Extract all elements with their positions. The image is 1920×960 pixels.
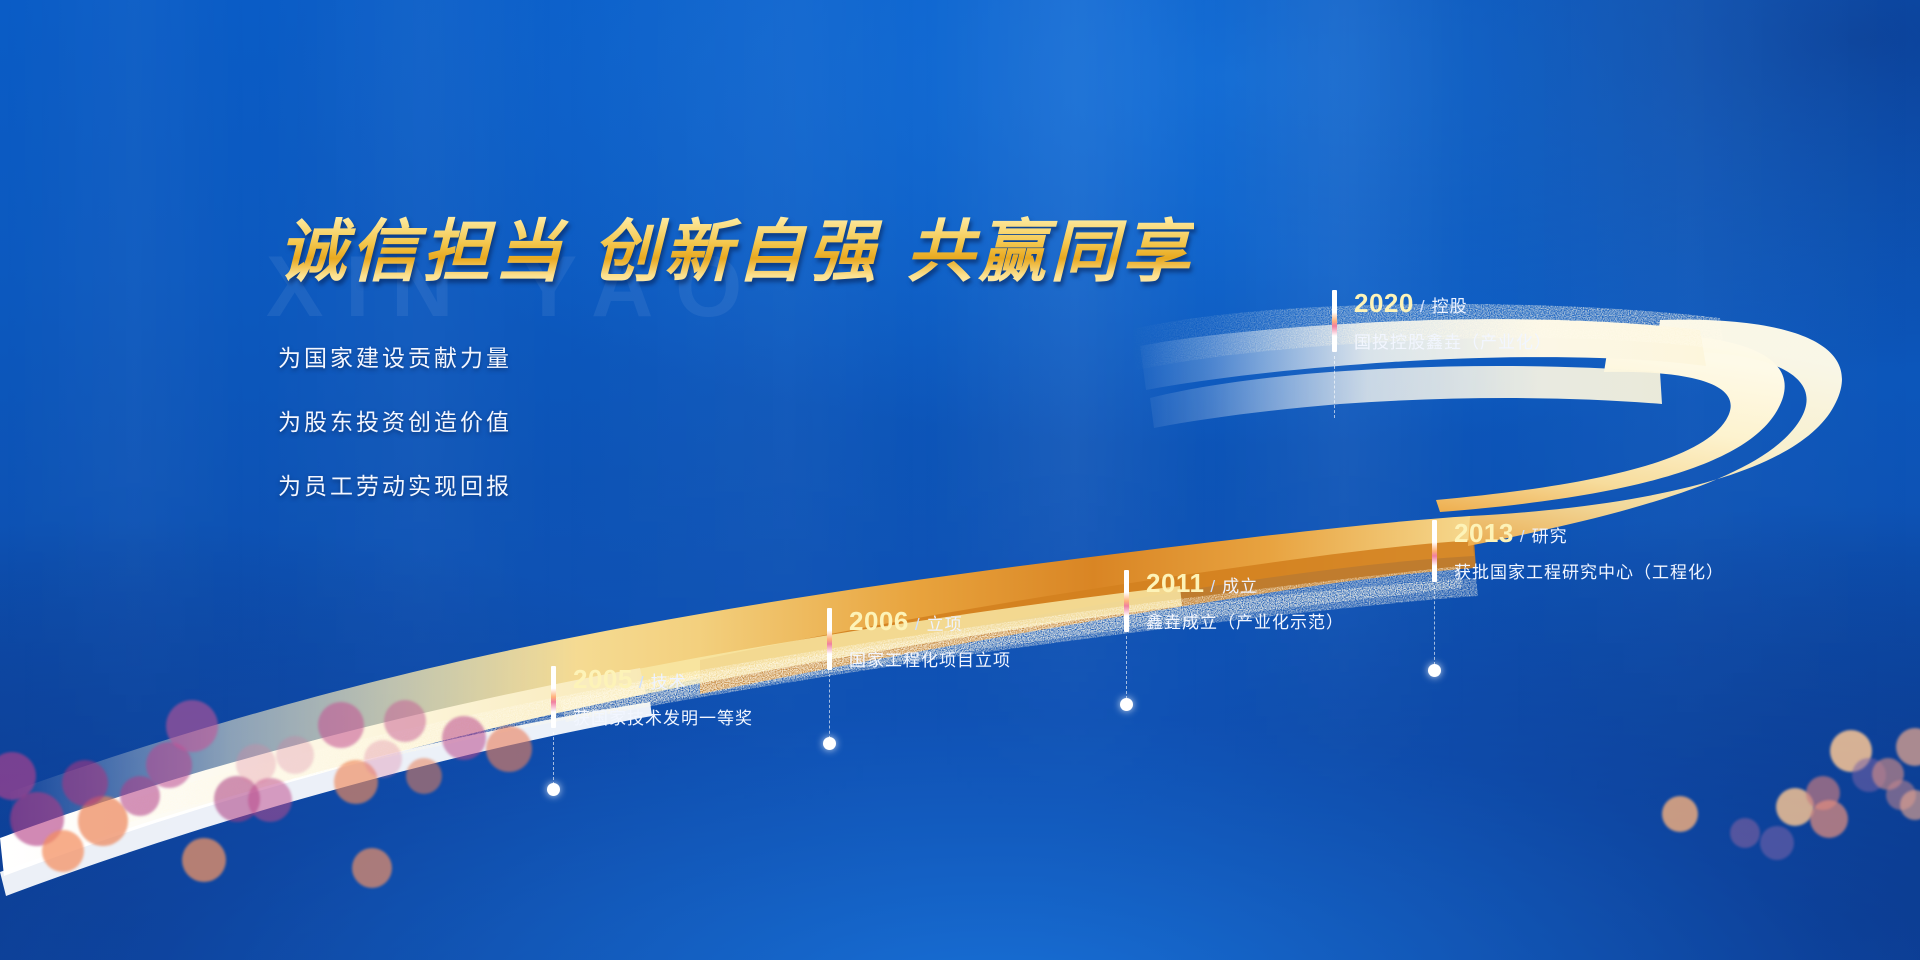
- milestone-accent-bar: [827, 608, 832, 670]
- bokeh-dot: [276, 736, 314, 774]
- milestone-dot-2006[interactable]: [823, 737, 836, 750]
- milestone-description: 获国家技术发明一等奖: [573, 704, 753, 729]
- milestone-leader-line-2013: [1434, 586, 1435, 670]
- bokeh-dot: [62, 760, 108, 806]
- page-title-part-2: 创新自强: [592, 214, 880, 290]
- tagline-item: 为员工劳动实现回报: [278, 467, 1194, 501]
- hero-text-block: XIN YAO 诚信担当创新自强共赢同享 为国家建设贡献力量 为股东投资创造价值…: [278, 196, 1194, 531]
- bokeh-dot: [1760, 826, 1794, 860]
- bokeh-dot: [10, 792, 64, 846]
- milestone-year: 2013: [1454, 518, 1514, 549]
- bokeh-dot: [1810, 800, 1848, 838]
- bokeh-dot: [236, 744, 276, 784]
- milestone-2011[interactable]: 2011/成立 鑫垚成立（产业化示范）: [1124, 568, 1344, 633]
- milestone-description: 获批国家工程研究中心（工程化）: [1454, 558, 1724, 583]
- milestone-dot-2005[interactable]: [547, 783, 560, 796]
- page-title: 诚信担当创新自强共赢同享: [278, 196, 1194, 295]
- bokeh-dot: [364, 740, 402, 778]
- milestone-separator: /: [1420, 297, 1425, 316]
- milestone-leader-line-2011: [1126, 636, 1127, 704]
- milestone-description: 国家工程化项目立项: [849, 646, 1011, 671]
- milestone-description: 鑫垚成立（产业化示范）: [1146, 608, 1344, 633]
- page-title-part-3: 共赢同享: [906, 214, 1194, 290]
- banner-canvas: XIN YAO 诚信担当创新自强共赢同享 为国家建设贡献力量 为股东投资创造价值…: [0, 0, 1920, 960]
- milestone-heading: 2005/技术: [573, 664, 753, 695]
- milestone-2020[interactable]: 2020/控股 国投控股鑫垚（产业化）: [1332, 288, 1552, 353]
- bokeh-dot: [166, 700, 218, 752]
- bokeh-dot: [334, 760, 378, 804]
- milestone-accent-bar: [1332, 290, 1337, 352]
- bokeh-dot: [486, 726, 532, 772]
- bokeh-dot: [1830, 730, 1872, 772]
- milestone-year: 2011: [1146, 568, 1204, 599]
- milestone-category: 技术: [651, 668, 687, 693]
- bokeh-dot: [1900, 790, 1920, 820]
- tagline-list: 为国家建设贡献力量 为股东投资创造价值 为员工劳动实现回报: [278, 339, 1194, 501]
- bokeh-dot: [442, 716, 486, 760]
- milestone-description: 国投控股鑫垚（产业化）: [1354, 328, 1552, 353]
- bokeh-dot: [78, 796, 128, 846]
- page-title-part-1: 诚信担当: [278, 214, 566, 290]
- bokeh-dot: [1730, 818, 1760, 848]
- milestone-accent-bar: [551, 666, 556, 728]
- bokeh-dot: [42, 830, 84, 872]
- tagline-item: 为股东投资创造价值: [278, 403, 1194, 437]
- bokeh-dot: [352, 848, 392, 888]
- milestone-category: 研究: [1532, 522, 1568, 547]
- milestone-category: 立项: [927, 610, 963, 635]
- milestone-heading: 2006/立项: [849, 606, 1011, 637]
- bokeh-dot: [384, 700, 426, 742]
- bokeh-dot: [406, 758, 442, 794]
- milestone-dot-2011[interactable]: [1120, 698, 1133, 711]
- bokeh-dot: [1852, 758, 1886, 792]
- milestone-separator: /: [1520, 527, 1525, 546]
- milestone-heading: 2020/控股: [1354, 288, 1552, 319]
- milestone-category: 成立: [1222, 572, 1258, 597]
- milestone-separator: /: [915, 615, 920, 634]
- bokeh-dot: [1886, 780, 1916, 810]
- milestone-separator: /: [1210, 577, 1215, 596]
- bokeh-dot: [1806, 776, 1840, 810]
- milestone-accent-bar: [1432, 520, 1437, 582]
- milestone-separator: /: [639, 673, 644, 692]
- milestone-leader-line-2006: [829, 674, 830, 744]
- milestone-year: 2006: [849, 606, 909, 637]
- bokeh-dot: [1776, 788, 1814, 826]
- tagline-item: 为国家建设贡献力量: [278, 339, 1194, 373]
- bokeh-dot: [120, 776, 160, 816]
- bokeh-dot: [1896, 728, 1920, 766]
- milestone-category: 控股: [1432, 292, 1468, 317]
- bokeh-dot: [1872, 758, 1904, 790]
- milestone-year: 2020: [1354, 288, 1414, 319]
- bokeh-dot: [248, 778, 292, 822]
- milestone-accent-bar: [1124, 570, 1129, 632]
- milestone-2005[interactable]: 2005/技术 获国家技术发明一等奖: [551, 664, 753, 729]
- milestone-leader-line-2005: [553, 732, 554, 790]
- bokeh-dot: [182, 838, 226, 882]
- bokeh-dot: [318, 702, 364, 748]
- bokeh-dot: [214, 776, 260, 822]
- bokeh-dot: [0, 752, 36, 800]
- bokeh-dot: [1662, 796, 1698, 832]
- milestone-leader-line-2020: [1334, 356, 1335, 418]
- milestone-2006[interactable]: 2006/立项 国家工程化项目立项: [827, 606, 1011, 671]
- bokeh-dot: [146, 742, 192, 788]
- milestone-dot-2013[interactable]: [1428, 664, 1441, 677]
- milestone-year: 2005: [573, 664, 633, 695]
- milestone-heading: 2011/成立: [1146, 568, 1344, 599]
- milestone-heading: 2013/研究: [1454, 518, 1724, 549]
- milestone-2013[interactable]: 2013/研究 获批国家工程研究中心（工程化）: [1432, 518, 1724, 583]
